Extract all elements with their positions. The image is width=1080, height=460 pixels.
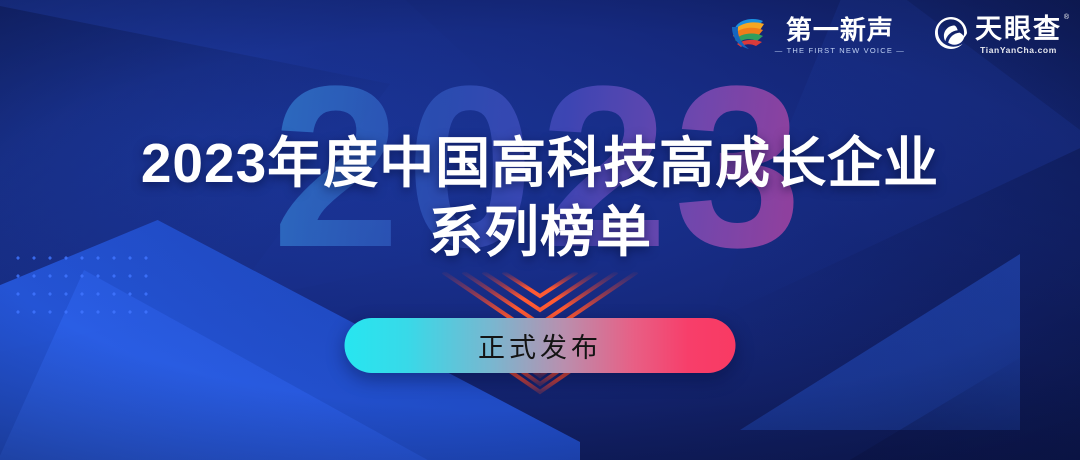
logo-separator [919,21,920,51]
logo-diyixinsheng[interactable]: 第一新声 — THE FIRST NEW VOICE — [730,15,905,56]
tianyancha-domain: TianYanCha.com [980,46,1057,55]
diyixinsheng-name-cn: 第一新声 [786,17,894,43]
tianyancha-logo-text: 天眼查 ® TianYanCha.com [975,16,1062,55]
title-line-1: 2023年度中国高科技高成长企业 [0,136,1080,191]
diyixinsheng-swirl-logo-icon [730,15,768,56]
logo-tianyancha[interactable]: 天眼查 ® TianYanCha.com [934,16,1062,55]
title-line-2: 系列榜单 [0,205,1080,260]
logo-bar: 第一新声 — THE FIRST NEW VOICE — 天眼查 ® TianY… [730,15,1062,56]
release-button[interactable]: 正式发布 [345,318,736,373]
diyixinsheng-name-en: — THE FIRST NEW VOICE — [775,47,905,55]
tianyancha-trademark: ® [1064,14,1069,21]
poster-title: 2023年度中国高科技高成长企业 系列榜单 [0,136,1080,260]
diyixinsheng-logo-text: 第一新声 — THE FIRST NEW VOICE — [775,17,905,55]
tianyancha-eye-logo-icon [934,16,968,55]
promo-poster: 2023 [0,0,1080,460]
tianyancha-name-cn: 天眼查 [975,16,1062,43]
